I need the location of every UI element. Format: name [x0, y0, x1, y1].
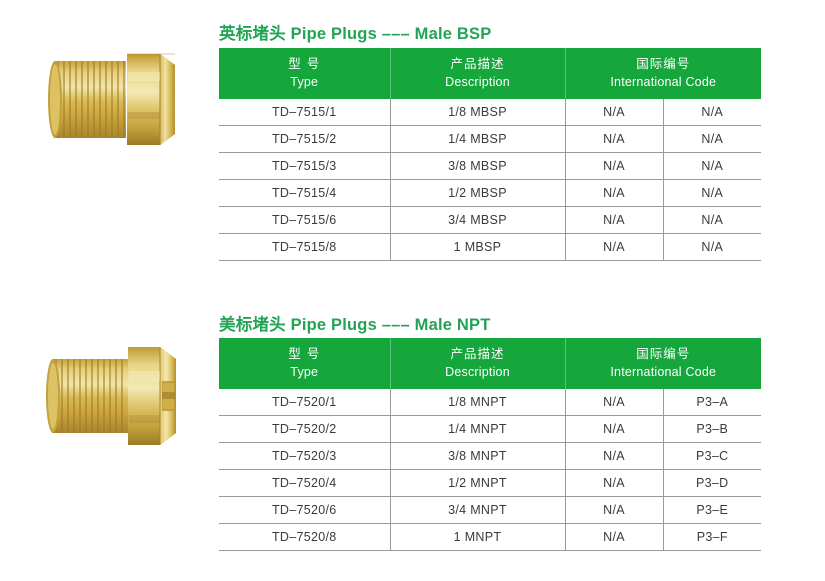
- column-header-description-cn: 产品描述: [393, 345, 563, 363]
- table-row: TD–7520/4 1/2 MNPT N/A P3–D: [219, 470, 761, 497]
- product-table-bsp-wrapper: 型 号 Type 产品描述 Description 国际编号 Internati…: [219, 48, 761, 261]
- product-section-npt: 美标堵头 Pipe Plugs ––– Male NPT 型 号 Type 产品…: [0, 295, 825, 581]
- cell-code-2: P3–D: [663, 470, 761, 497]
- section-title-bsp: 英标堵头 Pipe Plugs ––– Male BSP: [219, 20, 779, 44]
- cell-description: 1/2 MBSP: [390, 180, 565, 207]
- product-table-npt: 型 号 Type 产品描述 Description 国际编号 Internati…: [219, 338, 761, 551]
- product-table-npt-wrapper: 型 号 Type 产品描述 Description 国际编号 Internati…: [219, 338, 761, 551]
- column-header-international-code: 国际编号 International Code: [565, 48, 761, 99]
- cell-code-1: N/A: [565, 207, 663, 234]
- column-header-type-en: Type: [221, 73, 388, 91]
- cell-description: 3/8 MBSP: [390, 153, 565, 180]
- column-header-international-code-cn: 国际编号: [568, 55, 760, 73]
- cell-code-1: N/A: [565, 470, 663, 497]
- brass-hex-pipe-plug-npt-icon: [36, 337, 186, 452]
- section-title-npt-cn: 美标堵头: [219, 315, 286, 334]
- cell-code-1: N/A: [565, 389, 663, 416]
- column-header-type: 型 号 Type: [219, 338, 390, 389]
- table-row: TD–7520/1 1/8 MNPT N/A P3–A: [219, 389, 761, 416]
- cell-code-1: N/A: [565, 497, 663, 524]
- cell-type: TD–7515/4: [219, 180, 390, 207]
- table-row: TD–7515/8 1 MBSP N/A N/A: [219, 234, 761, 261]
- cell-type: TD–7515/3: [219, 153, 390, 180]
- cell-description: 3/8 MNPT: [390, 443, 565, 470]
- column-header-description-en: Description: [393, 363, 563, 381]
- table-row: TD–7520/2 1/4 MNPT N/A P3–B: [219, 416, 761, 443]
- table-header-row: 型 号 Type 产品描述 Description 国际编号 Internati…: [219, 48, 761, 99]
- cell-code-1: N/A: [565, 180, 663, 207]
- column-header-international-code-en: International Code: [568, 73, 760, 91]
- cell-code-1: N/A: [565, 443, 663, 470]
- product-section-bsp: 英标堵头 Pipe Plugs ––– Male BSP 型 号 Type 产品…: [0, 0, 825, 290]
- cell-description: 1/2 MNPT: [390, 470, 565, 497]
- column-header-description: 产品描述 Description: [390, 338, 565, 389]
- column-header-type: 型 号 Type: [219, 48, 390, 99]
- cell-type: TD–7520/4: [219, 470, 390, 497]
- cell-code-1: N/A: [565, 234, 663, 261]
- table-row: TD–7520/8 1 MNPT N/A P3–F: [219, 524, 761, 551]
- cell-code-2: P3–F: [663, 524, 761, 551]
- cell-type: TD–7520/6: [219, 497, 390, 524]
- cell-code-2: P3–A: [663, 389, 761, 416]
- column-header-description-en: Description: [393, 73, 563, 91]
- cell-code-1: N/A: [565, 416, 663, 443]
- cell-type: TD–7515/2: [219, 126, 390, 153]
- cell-description: 3/4 MNPT: [390, 497, 565, 524]
- product-image-npt: [36, 337, 186, 452]
- table-row: TD–7515/3 3/8 MBSP N/A N/A: [219, 153, 761, 180]
- cell-type: TD–7515/1: [219, 99, 390, 126]
- cell-code-2: P3–E: [663, 497, 761, 524]
- cell-code-2: N/A: [663, 153, 761, 180]
- cell-description: 1 MNPT: [390, 524, 565, 551]
- column-header-international-code-cn: 国际编号: [568, 345, 760, 363]
- section-title-npt-en: Pipe Plugs ––– Male NPT: [291, 316, 491, 334]
- section-title-bsp-cn: 英标堵头: [219, 24, 286, 43]
- cell-code-2: N/A: [663, 234, 761, 261]
- section-title-bsp-en: Pipe Plugs ––– Male BSP: [291, 25, 492, 43]
- cell-code-2: P3–C: [663, 443, 761, 470]
- cell-code-2: N/A: [663, 207, 761, 234]
- brass-hex-pipe-plug-bsp-icon: [34, 42, 184, 157]
- cell-description: 1/4 MBSP: [390, 126, 565, 153]
- cell-type: TD–7515/8: [219, 234, 390, 261]
- cell-type: TD–7520/1: [219, 389, 390, 416]
- table-row: TD–7520/3 3/8 MNPT N/A P3–C: [219, 443, 761, 470]
- column-header-international-code-en: International Code: [568, 363, 760, 381]
- table-row: TD–7520/6 3/4 MNPT N/A P3–E: [219, 497, 761, 524]
- table-row: TD–7515/1 1/8 MBSP N/A N/A: [219, 99, 761, 126]
- column-header-type-en: Type: [221, 363, 388, 381]
- table-row: TD–7515/4 1/2 MBSP N/A N/A: [219, 180, 761, 207]
- table-row: TD–7515/6 3/4 MBSP N/A N/A: [219, 207, 761, 234]
- cell-type: TD–7520/8: [219, 524, 390, 551]
- cell-code-1: N/A: [565, 153, 663, 180]
- cell-code-2: P3–B: [663, 416, 761, 443]
- cell-code-2: N/A: [663, 99, 761, 126]
- cell-code-2: N/A: [663, 180, 761, 207]
- column-header-type-cn: 型 号: [221, 55, 388, 73]
- cell-type: TD–7515/6: [219, 207, 390, 234]
- cell-code-1: N/A: [565, 126, 663, 153]
- section-title-npt: 美标堵头 Pipe Plugs ––– Male NPT: [219, 311, 779, 335]
- column-header-description-cn: 产品描述: [393, 55, 563, 73]
- cell-description: 1 MBSP: [390, 234, 565, 261]
- column-header-international-code: 国际编号 International Code: [565, 338, 761, 389]
- cell-code-1: N/A: [565, 524, 663, 551]
- product-image-bsp: [34, 42, 184, 157]
- cell-type: TD–7520/3: [219, 443, 390, 470]
- cell-description: 1/4 MNPT: [390, 416, 565, 443]
- cell-description: 3/4 MBSP: [390, 207, 565, 234]
- cell-description: 1/8 MNPT: [390, 389, 565, 416]
- column-header-description: 产品描述 Description: [390, 48, 565, 99]
- cell-code-2: N/A: [663, 126, 761, 153]
- column-header-type-cn: 型 号: [221, 345, 388, 363]
- cell-description: 1/8 MBSP: [390, 99, 565, 126]
- cell-code-1: N/A: [565, 99, 663, 126]
- product-table-bsp: 型 号 Type 产品描述 Description 国际编号 Internati…: [219, 48, 761, 261]
- table-row: TD–7515/2 1/4 MBSP N/A N/A: [219, 126, 761, 153]
- cell-type: TD–7520/2: [219, 416, 390, 443]
- table-header-row: 型 号 Type 产品描述 Description 国际编号 Internati…: [219, 338, 761, 389]
